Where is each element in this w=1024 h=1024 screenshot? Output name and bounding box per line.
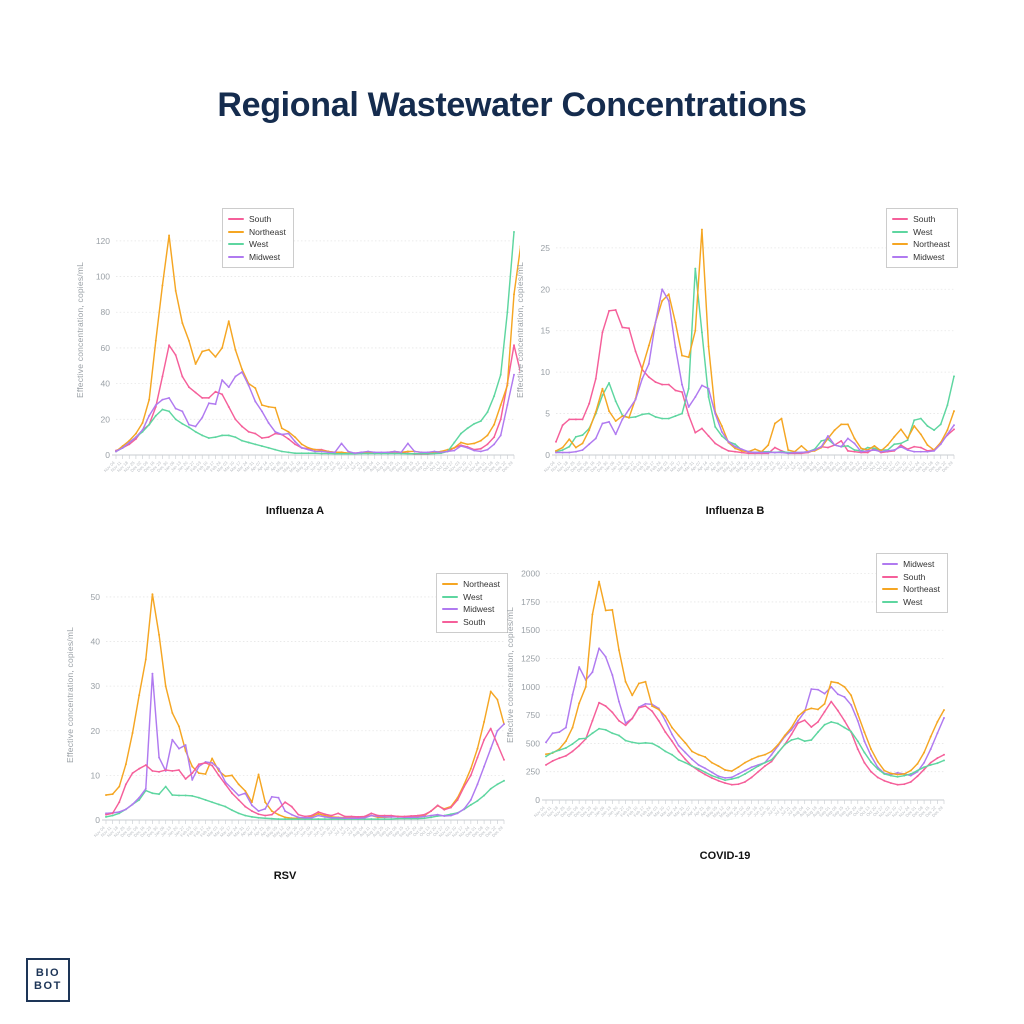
chart-caption-rsv: RSV — [60, 870, 510, 882]
svg-text:50: 50 — [91, 592, 101, 602]
legend-swatch-west — [892, 231, 908, 233]
svg-text:80: 80 — [101, 307, 111, 317]
legend-item-south[interactable]: South — [442, 616, 500, 629]
legend-label-west: West — [913, 226, 932, 239]
biobot-logo: BIO BOT — [26, 958, 70, 1002]
legend-item-northeast[interactable]: Northeast — [892, 238, 950, 251]
plot-rsv: Effective concentration, copies/mL 01020… — [60, 570, 510, 870]
legend-item-west[interactable]: West — [882, 596, 940, 609]
legend-item-west[interactable]: West — [442, 591, 500, 604]
svg-text:1250: 1250 — [521, 654, 540, 664]
legend-label-west: West — [463, 591, 482, 604]
svg-text:1500: 1500 — [521, 625, 540, 635]
legend-item-south[interactable]: South — [882, 571, 940, 584]
legend-swatch-northeast — [882, 588, 898, 590]
chart-panel-influenza-a: Effective concentration, copies/mL 02040… — [70, 205, 520, 565]
legend-label-midwest: Midwest — [463, 603, 494, 616]
legend-item-south[interactable]: South — [892, 213, 950, 226]
svg-text:10: 10 — [541, 367, 551, 377]
legend-swatch-midwest — [882, 563, 898, 565]
logo-line-1: BIO — [36, 967, 60, 980]
legend-swatch-west — [442, 596, 458, 598]
svg-text:750: 750 — [526, 710, 540, 720]
svg-text:1000: 1000 — [521, 682, 540, 692]
legend-item-midwest[interactable]: Midwest — [442, 603, 500, 616]
legend-label-northeast: Northeast — [913, 238, 950, 251]
legend-swatch-midwest — [892, 256, 908, 258]
legend-item-midwest[interactable]: Midwest — [228, 251, 286, 264]
legend-label-northeast: Northeast — [463, 578, 500, 591]
legend-rsv[interactable]: NortheastWestMidwestSouth — [436, 573, 508, 633]
legend-item-northeast[interactable]: Northeast — [228, 226, 286, 239]
chart-panel-rsv: Effective concentration, copies/mL 01020… — [60, 570, 510, 930]
legend-item-northeast[interactable]: Northeast — [882, 583, 940, 596]
chart-svg-influenza-a: 020406080100120Nov 04Nov 11Nov 18Nov 25D… — [70, 205, 520, 505]
svg-text:20: 20 — [101, 414, 111, 424]
charts-grid: Effective concentration, copies/mL 02040… — [0, 200, 1024, 960]
legend-label-south: South — [913, 213, 935, 226]
svg-text:0: 0 — [545, 450, 550, 460]
svg-text:0: 0 — [105, 450, 110, 460]
legend-label-west: West — [903, 596, 922, 609]
legend-label-midwest: Midwest — [913, 251, 944, 264]
plot-covid-19: Effective concentration, copies/mL 02505… — [500, 550, 950, 850]
legend-swatch-midwest — [442, 608, 458, 610]
legend-swatch-northeast — [228, 231, 244, 233]
legend-label-midwest: Midwest — [249, 251, 280, 264]
legend-item-northeast[interactable]: Northeast — [442, 578, 500, 591]
logo-line-2: BOT — [34, 980, 62, 993]
svg-text:120: 120 — [96, 236, 110, 246]
legend-swatch-northeast — [892, 243, 908, 245]
legend-item-south[interactable]: South — [228, 213, 286, 226]
legend-item-midwest[interactable]: Midwest — [892, 251, 950, 264]
chart-caption-influenza-a: Influenza A — [70, 505, 520, 517]
svg-text:250: 250 — [526, 767, 540, 777]
legend-label-northeast: Northeast — [903, 583, 940, 596]
legend-label-south: South — [463, 616, 485, 629]
legend-swatch-south — [882, 576, 898, 578]
svg-text:1750: 1750 — [521, 597, 540, 607]
svg-text:100: 100 — [96, 272, 110, 282]
legend-label-northeast: Northeast — [249, 226, 286, 239]
legend-swatch-west — [228, 243, 244, 245]
legend-label-south: South — [249, 213, 271, 226]
legend-swatch-south — [892, 218, 908, 220]
svg-text:40: 40 — [91, 637, 101, 647]
svg-text:0: 0 — [535, 795, 540, 805]
legend-swatch-south — [228, 218, 244, 220]
svg-text:25: 25 — [541, 243, 551, 253]
legend-label-south: South — [903, 571, 925, 584]
legend-item-west[interactable]: West — [228, 238, 286, 251]
plot-influenza-a: Effective concentration, copies/mL 02040… — [70, 205, 520, 505]
legend-influenza-b[interactable]: SouthWestNortheastMidwest — [886, 208, 958, 268]
svg-text:2000: 2000 — [521, 569, 540, 579]
chart-panel-covid-19: Effective concentration, copies/mL 02505… — [500, 550, 950, 910]
legend-swatch-northeast — [442, 583, 458, 585]
svg-text:60: 60 — [101, 343, 111, 353]
legend-swatch-west — [882, 601, 898, 603]
legend-label-west: West — [249, 238, 268, 251]
svg-text:10: 10 — [91, 770, 101, 780]
legend-covid-19[interactable]: MidwestSouthNortheastWest — [876, 553, 948, 613]
chart-panel-influenza-b: Effective concentration, copies/mL 05101… — [510, 205, 960, 565]
svg-text:500: 500 — [526, 738, 540, 748]
svg-text:20: 20 — [541, 284, 551, 294]
svg-text:20: 20 — [91, 726, 101, 736]
svg-text:0: 0 — [95, 815, 100, 825]
svg-text:5: 5 — [545, 409, 550, 419]
svg-text:30: 30 — [91, 681, 101, 691]
chart-caption-covid-19: COVID-19 — [500, 850, 950, 862]
legend-swatch-midwest — [228, 256, 244, 258]
legend-label-midwest: Midwest — [903, 558, 934, 571]
plot-influenza-b: Effective concentration, copies/mL 05101… — [510, 205, 960, 505]
svg-text:15: 15 — [541, 326, 551, 336]
page-title: Regional Wastewater Concentrations — [0, 86, 1024, 125]
legend-influenza-a[interactable]: SouthNortheastWestMidwest — [222, 208, 294, 268]
legend-swatch-south — [442, 621, 458, 623]
legend-item-midwest[interactable]: Midwest — [882, 558, 940, 571]
legend-item-west[interactable]: West — [892, 226, 950, 239]
svg-text:40: 40 — [101, 379, 111, 389]
chart-caption-influenza-b: Influenza B — [510, 505, 960, 517]
